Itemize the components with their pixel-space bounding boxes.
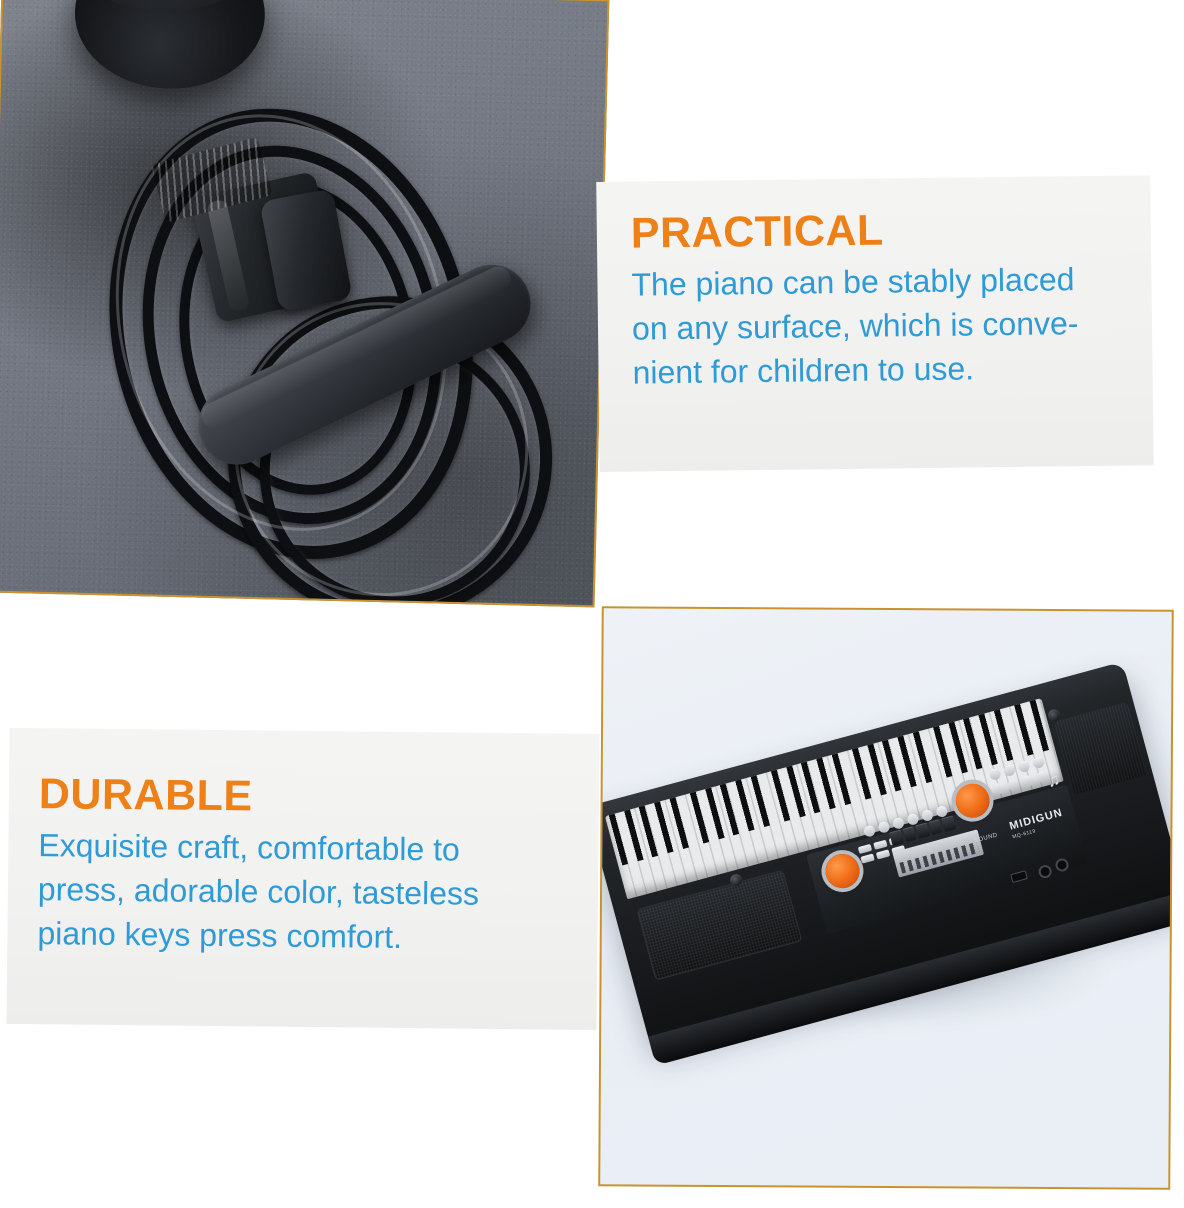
photo-keyboard-product: SOUND MIDIGUN MQ-6119 ♫ [598,606,1174,1189]
practical-body-line: on any surface, which is conve- [632,301,1119,351]
practical-body-line: nient for children to use. [632,345,1119,395]
keypad-key [902,826,917,843]
keypad-key [928,819,943,836]
practical-body: The piano can be stably placed on any su… [631,257,1119,395]
durable-body-line: Exquisite craft, comfortable to [38,823,568,873]
durable-body-line: press, adorable color, tasteless [38,867,568,917]
durable-heading: DURABLE [39,772,569,823]
feature-panel-durable: DURABLE Exquisite craft, comfortable to … [6,728,599,1030]
keypad-key [915,822,930,839]
round-button [1003,764,1016,777]
durable-body: Exquisite craft, comfortable to press, a… [37,823,568,961]
practical-heading: PRACTICAL [631,206,1118,257]
durable-body-line: piano keys press comfort. [37,912,567,962]
feature-panel-practical: PRACTICAL The piano can be stably placed… [596,175,1154,472]
keypad-key [889,830,904,847]
photo-cable-detail [0,0,609,607]
round-button [1017,760,1030,773]
practical-body-line: The piano can be stably placed [631,257,1118,307]
round-button [988,768,1001,781]
